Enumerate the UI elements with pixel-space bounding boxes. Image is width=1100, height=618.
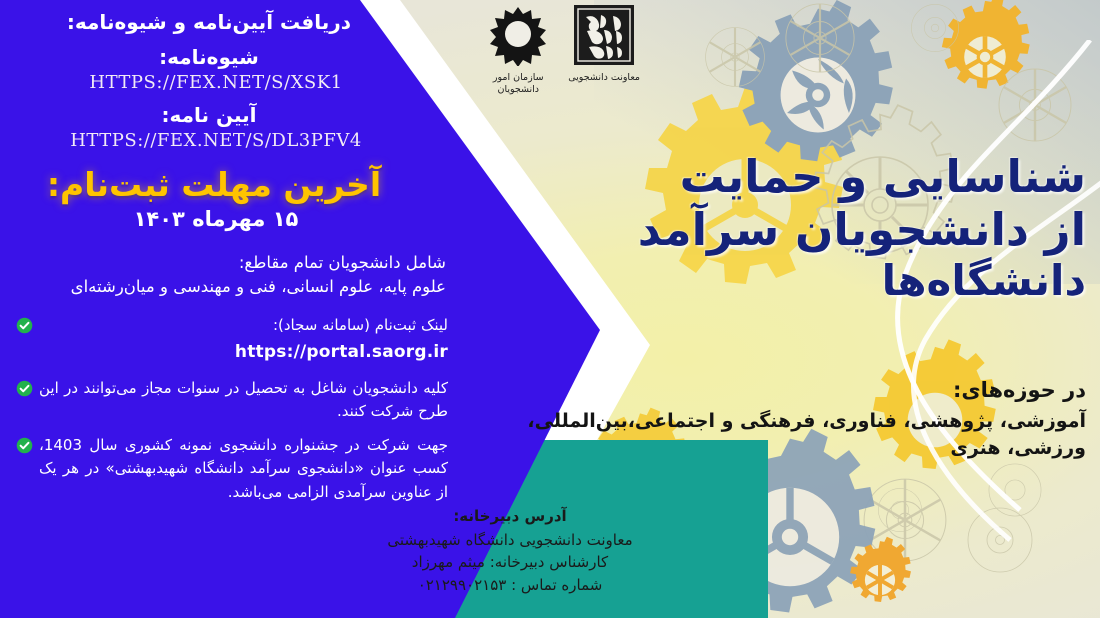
secretariat-line-1: معاونت دانشجویی دانشگاه شهید‌بهشتی: [300, 529, 720, 552]
bullet-1-label: لینک ثبت‌نام (سامانه سجاد):: [273, 316, 448, 334]
deadline-date: ۱۵ مهرماه ۱۴۰۳: [10, 207, 452, 231]
download-label-shivename: شیوه‌نامه:: [10, 45, 452, 70]
bullet-1-text: لینک ثبت‌نام (سامانه سجاد): https://port…: [39, 314, 448, 366]
poster-canvas: دریافت آیین‌نامه و شیوه‌نامه: شیوه‌نامه:…: [0, 0, 1100, 618]
logo-shahid-beheshti: معاونت دانشجویی: [568, 4, 640, 84]
check-circle-icon: [16, 317, 33, 334]
fields-label: در حوزه‌های:: [486, 378, 1086, 402]
check-circle-icon: [16, 437, 33, 454]
secretariat-title: آدرس دبیرخانه:: [300, 505, 720, 528]
eligibility-line-2: علوم پایه، علوم انسانی، فنی و مهندسی و م…: [20, 275, 446, 300]
secretariat-line-2: کارشناس دبیرخانه: میثم مهرزاد: [300, 551, 720, 574]
logo-student-affairs: سازمان امور دانشجویان: [484, 4, 552, 96]
eligibility-block: شامل دانشجویان تمام مقاطع: علوم پایه، عل…: [20, 251, 446, 301]
bullet-list: لینک ثبت‌نام (سامانه سجاد): https://port…: [16, 314, 448, 504]
secretariat-block: آدرس دبیرخانه: معاونت دانشجویی دانشگاه ش…: [300, 505, 720, 596]
eligibility-line-1: شامل دانشجویان تمام مقاطع:: [20, 251, 446, 276]
fields-block: در حوزه‌های: آموزشی، پژوهشی، فناوری، فره…: [486, 378, 1086, 461]
download-url-ayinname[interactable]: HTTPS://FEX.NET/S/DL3PFV4: [10, 130, 452, 151]
download-url-shivename[interactable]: HTTPS://FEX.NET/S/XSK1: [10, 72, 452, 93]
check-circle-icon: [16, 380, 33, 397]
logo-row: معاونت دانشجویی سازمان امور دانشجویان: [425, 4, 640, 112]
page-title: شناسایی و حمایت از دانشجویان سرآمد دانشگ…: [566, 150, 1086, 306]
deadline-label: آخرین مهلت ثبت‌نام:: [10, 165, 452, 205]
shahid-beheshti-emblem-icon: [573, 4, 635, 70]
logo-student-affairs-caption-2: دانشجویان: [497, 84, 539, 96]
list-item: لینک ثبت‌نام (سامانه سجاد): https://port…: [16, 314, 448, 366]
registration-link[interactable]: https://portal.saorg.ir: [39, 339, 448, 365]
logo-student-affairs-caption-1: سازمان امور: [493, 72, 544, 84]
title-line-3: دانشگاه‌ها: [566, 256, 1086, 306]
downloads-heading: دریافت آیین‌نامه و شیوه‌نامه:: [10, 10, 452, 35]
list-item: کلیه دانشجویان شاغل به تحصیل در سنوات مج…: [16, 377, 448, 424]
logo-shahid-beheshti-caption: معاونت دانشجویی: [568, 72, 640, 84]
title-line-1: شناسایی و حمایت: [680, 150, 1086, 203]
title-line-2: از دانشجویان سرآمد: [566, 203, 1086, 256]
bullet-2-text: کلیه دانشجویان شاغل به تحصیل در سنوات مج…: [39, 377, 448, 424]
download-label-ayinname: آیین نامه:: [10, 103, 452, 128]
secretariat-phone: شماره تماس : ۰۲۱۲۹۹۰۲۱۵۳: [300, 574, 720, 597]
student-affairs-emblem-icon: [484, 4, 552, 70]
fields-list: آموزشی، پژوهشی، فناوری، فرهنگی و اجتماعی…: [486, 408, 1086, 461]
list-item: جهت شرکت در جشنواره دانشجوی نمونه کشوری …: [16, 434, 448, 504]
bullet-3-text: جهت شرکت در جشنواره دانشجوی نمونه کشوری …: [39, 434, 448, 504]
